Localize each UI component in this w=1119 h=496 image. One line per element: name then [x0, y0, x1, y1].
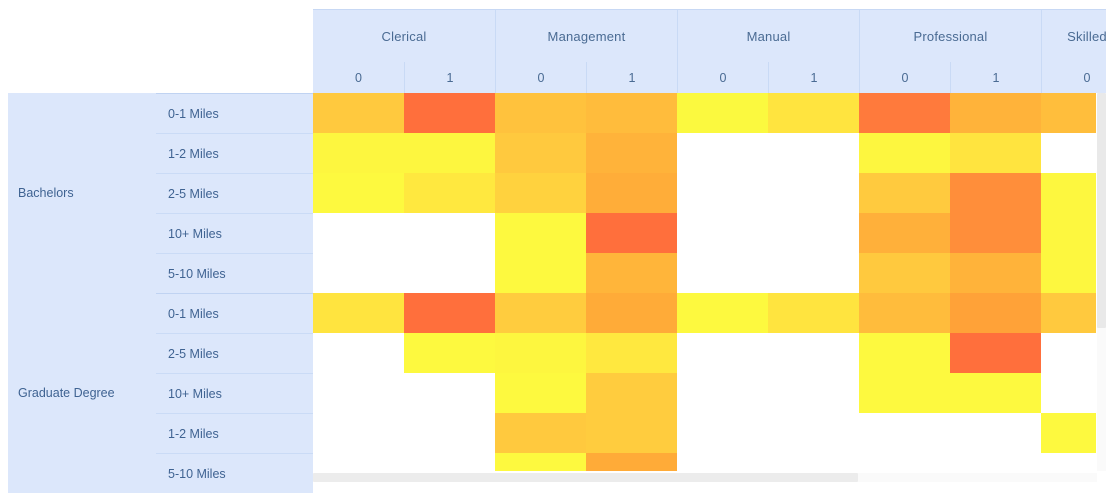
column-sub-label: 0 [720, 71, 727, 85]
row-header-cell[interactable]: 1-2 Miles [156, 133, 313, 173]
heatmap-cell[interactable] [1041, 293, 1096, 333]
heatmap-cell[interactable] [495, 413, 586, 453]
vertical-scrollbar-thumb[interactable] [1097, 93, 1106, 328]
heatmap-cell[interactable] [586, 213, 677, 253]
heatmap-cell[interactable] [677, 173, 768, 213]
heatmap-cell[interactable] [768, 373, 859, 413]
heatmap-cell[interactable] [859, 253, 950, 293]
heatmap-cell[interactable] [586, 253, 677, 293]
heatmap-cell[interactable] [859, 373, 950, 413]
column-sub-header[interactable]: 0 [1041, 62, 1119, 94]
heatmap-cells [313, 93, 1096, 471]
heatmap-cell[interactable] [950, 373, 1041, 413]
heatmap-cell[interactable] [950, 133, 1041, 173]
column-sub-header[interactable]: 0 [313, 62, 404, 94]
heatmap-cell[interactable] [313, 373, 404, 413]
heatmap-cell[interactable] [495, 133, 586, 173]
heatmap-pivot-table: ClericalManagementManualProfessionalSkil… [0, 0, 1119, 496]
heatmap-cell[interactable] [495, 253, 586, 293]
column-sub-label: 1 [811, 71, 818, 85]
heatmap-cell[interactable] [950, 93, 1041, 133]
row-header-cell[interactable]: 0-1 Miles [156, 93, 313, 133]
row-header-label: 0-1 Miles [168, 307, 219, 321]
heatmap-cell[interactable] [586, 373, 677, 413]
column-sub-header[interactable]: 0 [677, 62, 768, 94]
heatmap-cell[interactable] [495, 333, 586, 373]
heatmap-cell[interactable] [677, 293, 768, 333]
column-sub-label: 1 [629, 71, 636, 85]
row-header-label: 0-1 Miles [168, 107, 219, 121]
row-header-cell[interactable]: 10+ Miles [156, 213, 313, 253]
heatmap-cell[interactable] [404, 333, 495, 373]
heatmap-cell[interactable] [313, 413, 404, 453]
heatmap-cell[interactable] [859, 333, 950, 373]
heatmap-cell[interactable] [768, 133, 859, 173]
heatmap-cell[interactable] [677, 333, 768, 373]
row-header-label: 2-5 Miles [168, 347, 219, 361]
heatmap-cell[interactable] [677, 93, 768, 133]
column-group-header[interactable]: Clerical [313, 10, 495, 62]
column-group-label: Professional [914, 29, 988, 44]
heatmap-cell[interactable] [404, 373, 495, 413]
heatmap-cell[interactable] [586, 93, 677, 133]
column-sub-header[interactable]: 1 [586, 62, 677, 94]
heatmap-cell[interactable] [677, 453, 768, 471]
column-sub-header[interactable]: 0 [859, 62, 950, 94]
heatmap-cell[interactable] [313, 293, 404, 333]
row-header-label: 1-2 Miles [168, 427, 219, 441]
heatmap-cell[interactable] [495, 293, 586, 333]
row-header-cell[interactable]: 1-2 Miles [156, 413, 313, 453]
row-group-header[interactable]: Graduate Degree [8, 293, 156, 493]
heatmap-cell[interactable] [768, 293, 859, 333]
column-group-header[interactable]: Manual [677, 10, 859, 62]
heatmap-cell[interactable] [586, 413, 677, 453]
heatmap-cell[interactable] [859, 93, 950, 133]
heatmap-cell[interactable] [495, 213, 586, 253]
column-group-label: Manual [747, 29, 791, 44]
heatmap-cell[interactable] [859, 413, 950, 453]
heatmap-cell[interactable] [1041, 173, 1096, 213]
heatmap-cell[interactable] [495, 93, 586, 133]
heatmap-cell[interactable] [1041, 253, 1096, 293]
row-header-cell[interactable]: 2-5 Miles [156, 333, 313, 373]
heatmap-cell[interactable] [495, 373, 586, 413]
column-group-row: ClericalManagementManualProfessionalSkil… [313, 10, 1106, 62]
column-group-header[interactable]: Skilled [1041, 10, 1119, 62]
row-header-cell[interactable]: 2-5 Miles [156, 173, 313, 213]
column-sub-header[interactable]: 1 [404, 62, 495, 94]
heatmap-cell[interactable] [313, 333, 404, 373]
heatmap-cell[interactable] [586, 133, 677, 173]
heatmap-cell[interactable] [1041, 413, 1096, 453]
scrollbar-corner [1097, 473, 1106, 482]
column-sub-header[interactable]: 0 [495, 62, 586, 94]
column-group-label: Clerical [382, 29, 427, 44]
heatmap-cell[interactable] [768, 173, 859, 213]
heatmap-cell[interactable] [495, 173, 586, 213]
column-sub-label: 1 [993, 71, 1000, 85]
pivot-grid: ClericalManagementManualProfessionalSkil… [0, 0, 1119, 496]
row-header-cell[interactable]: 0-1 Miles [156, 293, 313, 333]
column-header-area: ClericalManagementManualProfessionalSkil… [313, 9, 1106, 93]
heatmap-cell[interactable] [859, 293, 950, 333]
horizontal-scrollbar-thumb[interactable] [313, 473, 858, 482]
heatmap-cell[interactable] [950, 413, 1041, 453]
heatmap-cell[interactable] [586, 453, 677, 471]
row-header-cell[interactable]: 5-10 Miles [156, 253, 313, 293]
heatmap-cell[interactable] [404, 413, 495, 453]
heatmap-cell[interactable] [404, 253, 495, 293]
column-sub-header[interactable]: 1 [950, 62, 1041, 94]
heatmap-cell[interactable] [950, 173, 1041, 213]
heatmap-cell[interactable] [313, 133, 404, 173]
heatmap-cell[interactable] [313, 213, 404, 253]
heatmap-cell[interactable] [1041, 453, 1096, 471]
heatmap-cell[interactable] [859, 213, 950, 253]
column-sub-label: 0 [538, 71, 545, 85]
heatmap-cell[interactable] [1041, 213, 1096, 253]
heatmap-cell[interactable] [950, 453, 1041, 471]
heatmap-cell[interactable] [404, 293, 495, 333]
column-sub-header[interactable]: 1 [768, 62, 859, 94]
heatmap-cell[interactable] [768, 93, 859, 133]
heatmap-cell[interactable] [404, 133, 495, 173]
row-header-label: 5-10 Miles [168, 267, 226, 281]
heatmap-cell[interactable] [768, 413, 859, 453]
heatmap-cell[interactable] [1041, 373, 1096, 413]
row-header-cell[interactable]: 10+ Miles [156, 373, 313, 413]
column-sub-label: 0 [902, 71, 909, 85]
heatmap-cell[interactable] [313, 253, 404, 293]
row-group-label: Graduate Degree [18, 386, 115, 400]
heatmap-cell[interactable] [404, 213, 495, 253]
heatmap-cell[interactable] [950, 253, 1041, 293]
column-group-label: Skilled [1067, 29, 1107, 44]
heatmap-cell[interactable] [404, 93, 495, 133]
heatmap-cell[interactable] [495, 453, 586, 471]
column-group-header[interactable]: Management [495, 10, 677, 62]
heatmap-cell[interactable] [677, 413, 768, 453]
row-header-label: 5-10 Miles [168, 467, 226, 481]
heatmap-cell[interactable] [677, 253, 768, 293]
heatmap-cell[interactable] [1041, 93, 1096, 133]
heatmap-cell[interactable] [404, 173, 495, 213]
heatmap-cell[interactable] [859, 453, 950, 471]
column-group-label: Management [548, 29, 626, 44]
column-group-header[interactable]: Professional [859, 10, 1041, 62]
column-sub-label: 0 [1084, 71, 1091, 85]
row-group-header[interactable]: Bachelors [8, 93, 156, 293]
column-sub-row: 010101010 [313, 62, 1106, 94]
column-sub-label: 1 [447, 71, 454, 85]
heatmap-cell[interactable] [677, 213, 768, 253]
heatmap-cell[interactable] [313, 453, 404, 471]
heatmap-cell[interactable] [677, 133, 768, 173]
heatmap-cell[interactable] [586, 173, 677, 213]
corner-blank-cell [0, 0, 313, 93]
heatmap-cell[interactable] [768, 333, 859, 373]
heatmap-cell[interactable] [313, 173, 404, 213]
row-header-area: Bachelors0-1 Miles1-2 Miles2-5 Miles10+ … [0, 93, 313, 471]
row-header-label: 1-2 Miles [168, 147, 219, 161]
row-header-label: 2-5 Miles [168, 187, 219, 201]
row-header-cell[interactable]: 5-10 Miles [156, 453, 313, 493]
heatmap-cell[interactable] [677, 373, 768, 413]
heatmap-cell[interactable] [950, 333, 1041, 373]
row-header-label: 10+ Miles [168, 227, 222, 241]
heatmap-cell[interactable] [586, 333, 677, 373]
heatmap-cell[interactable] [1041, 133, 1096, 173]
heatmap-cell[interactable] [768, 253, 859, 293]
heatmap-cell[interactable] [859, 133, 950, 173]
heatmap-cell[interactable] [768, 453, 859, 471]
heatmap-cell[interactable] [1041, 333, 1096, 373]
heatmap-cell[interactable] [768, 213, 859, 253]
heatmap-cell[interactable] [950, 213, 1041, 253]
column-sub-label: 0 [355, 71, 362, 85]
heatmap-cell[interactable] [859, 173, 950, 213]
row-group-label: Bachelors [18, 186, 74, 200]
heatmap-cell[interactable] [950, 293, 1041, 333]
heatmap-cell[interactable] [404, 453, 495, 471]
heatmap-cell[interactable] [586, 293, 677, 333]
heatmap-cell[interactable] [313, 93, 404, 133]
row-header-label: 10+ Miles [168, 387, 222, 401]
